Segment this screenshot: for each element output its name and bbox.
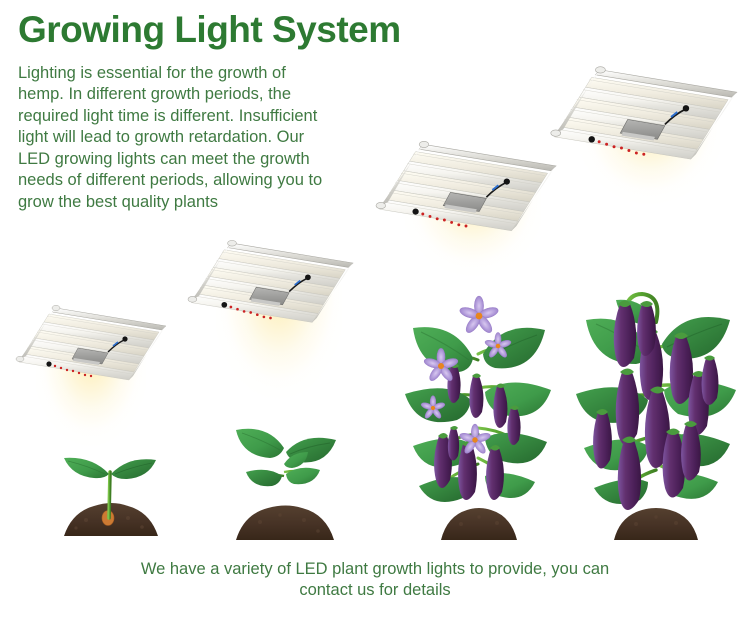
leaf <box>64 458 109 478</box>
fixture-panel-1 <box>16 305 166 380</box>
plant-stage-2-vegetative <box>212 418 362 540</box>
fixture-panel-4 <box>551 67 737 160</box>
eggplant-fruit <box>469 374 483 419</box>
growth-stage-scene <box>0 0 750 636</box>
stem <box>109 472 110 518</box>
leaf <box>246 470 282 486</box>
eggplant-fruit <box>702 356 719 406</box>
plant-stage-4-harvest <box>558 272 744 540</box>
flower-center <box>496 344 501 349</box>
led-grow-light-fixture-3[interactable] <box>372 130 572 250</box>
plant-stage-3-flowering <box>383 288 559 540</box>
leaf <box>111 459 156 479</box>
fixture-end-cap <box>551 130 561 136</box>
flower-center <box>431 406 435 410</box>
leaf <box>483 328 545 369</box>
eggplant-fruit <box>448 426 459 461</box>
fixture-end-cap <box>419 141 429 147</box>
led-grow-light-fixture-2[interactable] <box>184 230 368 340</box>
leaf <box>236 429 284 458</box>
fixture-panel-2 <box>188 240 353 322</box>
led-grow-light-fixture-4[interactable] <box>548 55 750 179</box>
flower-center <box>472 437 477 442</box>
flower-center <box>476 313 483 320</box>
led-grow-light-fixture-1[interactable] <box>16 296 176 396</box>
plant-stage-1-seedling <box>42 444 182 536</box>
eggplant-fruit <box>616 369 639 446</box>
fixture-end-cap <box>376 202 386 208</box>
fixture-end-cap <box>16 356 24 361</box>
fixture-panel-3 <box>376 141 556 231</box>
poster-canvas: Growing Light System Lighting is essenti… <box>0 0 750 636</box>
fixture-end-cap <box>228 240 237 246</box>
fixture-end-cap <box>188 296 197 302</box>
flower-center <box>438 363 444 369</box>
eggplant-flower <box>459 296 500 335</box>
fixture-end-cap <box>595 67 605 73</box>
fixture-end-cap <box>52 305 60 310</box>
